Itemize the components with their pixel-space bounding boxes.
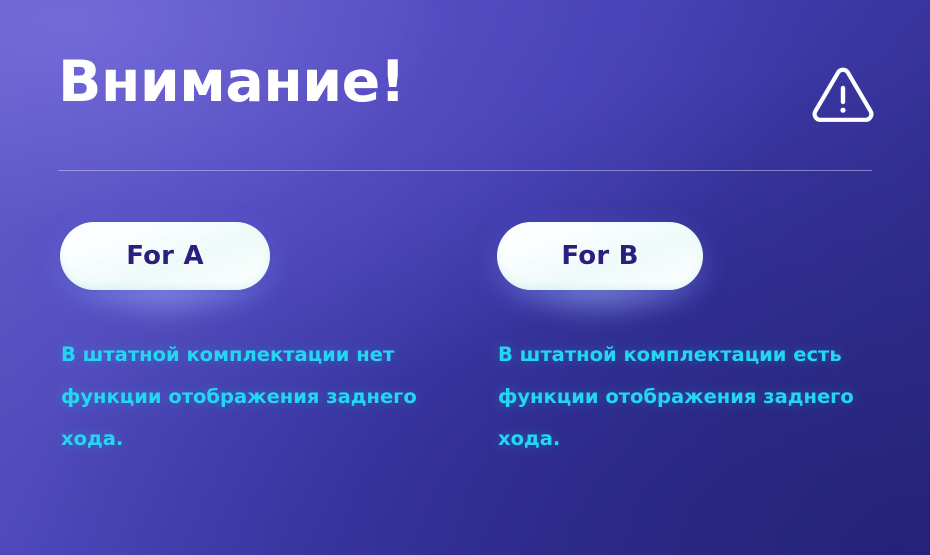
pill-background[interactable]: For A [60,222,270,290]
description-for-a: В штатной комплектации нет функции отобр… [61,334,453,460]
pill-background[interactable]: For B [497,222,703,290]
column-for-a: For A В штатной комплектации нет функции… [60,222,460,290]
column-for-b: For B В штатной комплектации есть функци… [497,222,897,290]
pill-for-a[interactable]: For A [60,222,270,290]
pill-for-b[interactable]: For B [497,222,703,290]
header-divider [58,170,872,171]
description-for-b: В штатной комплектации есть функции отоб… [498,334,894,460]
page-title: Внимание! [58,54,405,111]
pill-label-for-b: For B [561,241,638,271]
pill-label-for-a: For A [126,241,204,271]
warning-slide: Внимание! For A В штатной комплектации н… [0,0,930,555]
warning-triangle-icon [808,62,878,132]
